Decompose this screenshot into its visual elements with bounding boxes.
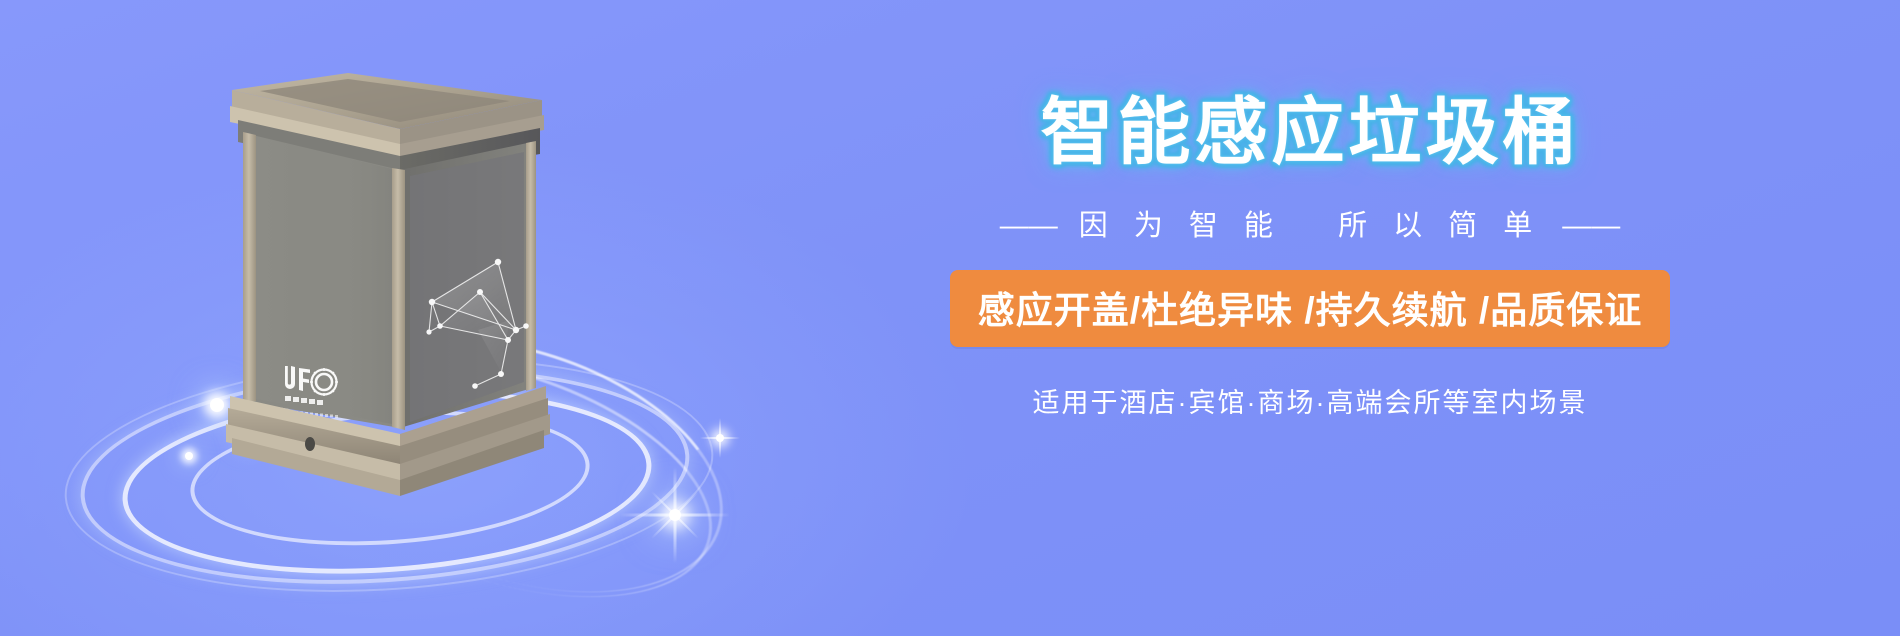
bin-corner-post-right [526, 141, 536, 391]
bin-corner-post-left [243, 132, 256, 402]
bin-corner-post-center [392, 168, 405, 430]
product-banner: 智能感应垃圾桶 —— 因 为 智 能 所 以 简 单 —— 感应开盖/杜绝异味 … [0, 0, 1900, 636]
subtitle-dash-left: —— [996, 210, 1062, 242]
product-visual [60, 20, 760, 620]
trash-bin-illustration [80, 30, 640, 510]
page-title: 智能感应垃圾桶 [880, 95, 1740, 172]
banner-copy: 智能感应垃圾桶 —— 因 为 智 能 所 以 简 单 —— 感应开盖/杜绝异味 … [880, 95, 1740, 420]
subtitle-tagline: —— 因 为 智 能 所 以 简 单 —— [880, 202, 1740, 244]
feature-highlight-strip: 感应开盖/杜绝异味 /持久续航 /品质保证 [950, 270, 1670, 347]
usage-scenario-text: 适用于酒店·宾馆·商场·高端会所等室内场景 [880, 381, 1740, 420]
sparkle-small-icon [700, 418, 740, 458]
subtitle-text-a: 因 为 智 能 [1079, 210, 1282, 242]
subtitle-dash-right: —— [1558, 210, 1624, 242]
sensor-port-icon [305, 437, 315, 451]
subtitle-text-b: 所 以 简 单 [1338, 210, 1541, 242]
